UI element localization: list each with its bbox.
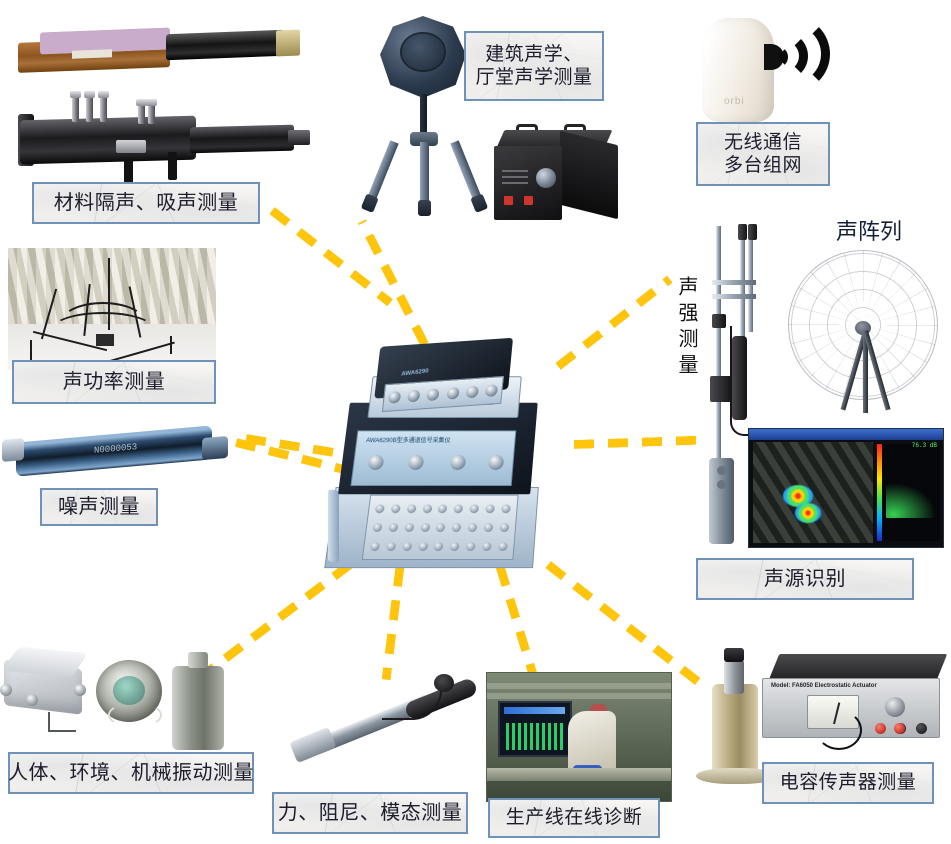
anechoic-chamber-photo	[8, 248, 216, 370]
production-line-photo	[486, 672, 672, 802]
beamforming-screenshot: 76.3 dB	[748, 428, 944, 548]
dash-line-to-intensity	[574, 435, 704, 449]
label-line: 厅堂声学测量	[475, 66, 592, 89]
probe-cable	[730, 326, 754, 436]
impedance-tube-wood-photo	[18, 26, 310, 84]
label-wireless-network[interactable]: 无线通信 多台组网	[696, 122, 830, 186]
label-building-acoustics[interactable]: 建筑声学、 厅堂声学测量	[464, 31, 604, 101]
impact-hammer-photo	[286, 672, 486, 792]
router-brand-text: orbi	[724, 96, 745, 107]
daq-stack-photo: AWA6290B型多通道信号采集仪 AWA6290	[322, 336, 552, 576]
label-line: 声功率测量	[63, 370, 166, 394]
label-sound-power[interactable]: 声功率测量	[12, 360, 216, 404]
dash-line-to-modal	[382, 566, 405, 680]
beamforming-db-readout: 76.3 dB	[912, 442, 937, 449]
label-line: 建筑声学、	[485, 43, 583, 66]
label-line: 生产线在线诊断	[506, 806, 643, 829]
wifi-wave-3	[754, 16, 830, 92]
label-line: 声源识别	[764, 567, 846, 591]
label-production-line[interactable]: 生产线在线诊断	[488, 798, 660, 838]
power-amplifier-photo	[494, 124, 622, 226]
daq-model-label: AWA6290B型多通道信号采集仪	[366, 435, 451, 444]
label-line: 噪声测量	[58, 495, 140, 519]
label-body-env-vibration[interactable]: 人体、环境、机械振动测量	[8, 752, 254, 794]
wifi-router-photo: orbi	[702, 18, 862, 130]
impedance-tube-black-photo	[20, 100, 320, 190]
label-sound-intensity: 声强测量	[676, 276, 696, 380]
label-line: 电容传声器测量	[780, 771, 917, 794]
acoustic-measurement-system-diagram: orbi N0000053	[0, 0, 951, 844]
noise-probe-photo: N0000053	[16, 434, 212, 468]
label-material-insulation[interactable]: 材料隔声、吸声测量	[32, 182, 260, 224]
dash-line-to-wireless	[555, 276, 672, 371]
label-line: 力、阻尼、模态测量	[278, 801, 463, 825]
label-line: 多台组网	[724, 154, 802, 177]
label-line: 材料隔声、吸声测量	[54, 191, 239, 215]
label-acoustic-array: 声阵列	[836, 214, 902, 246]
label-noise-measure[interactable]: 噪声测量	[40, 488, 158, 526]
label-capacitor-microphone[interactable]: 电容传声器测量	[762, 762, 934, 804]
label-line: 无线通信	[724, 131, 802, 154]
dash-line-to-capacitor	[545, 561, 705, 689]
label-force-damping-modal[interactable]: 力、阻尼、模态测量	[272, 792, 468, 834]
label-source-identification[interactable]: 声源识别	[696, 558, 914, 600]
spherical-mic-array-photo	[788, 250, 938, 400]
accelerometer-group-photo	[4, 648, 264, 768]
dash-line-to-production	[496, 565, 541, 686]
label-line: 人体、环境、机械振动测量	[8, 761, 254, 785]
